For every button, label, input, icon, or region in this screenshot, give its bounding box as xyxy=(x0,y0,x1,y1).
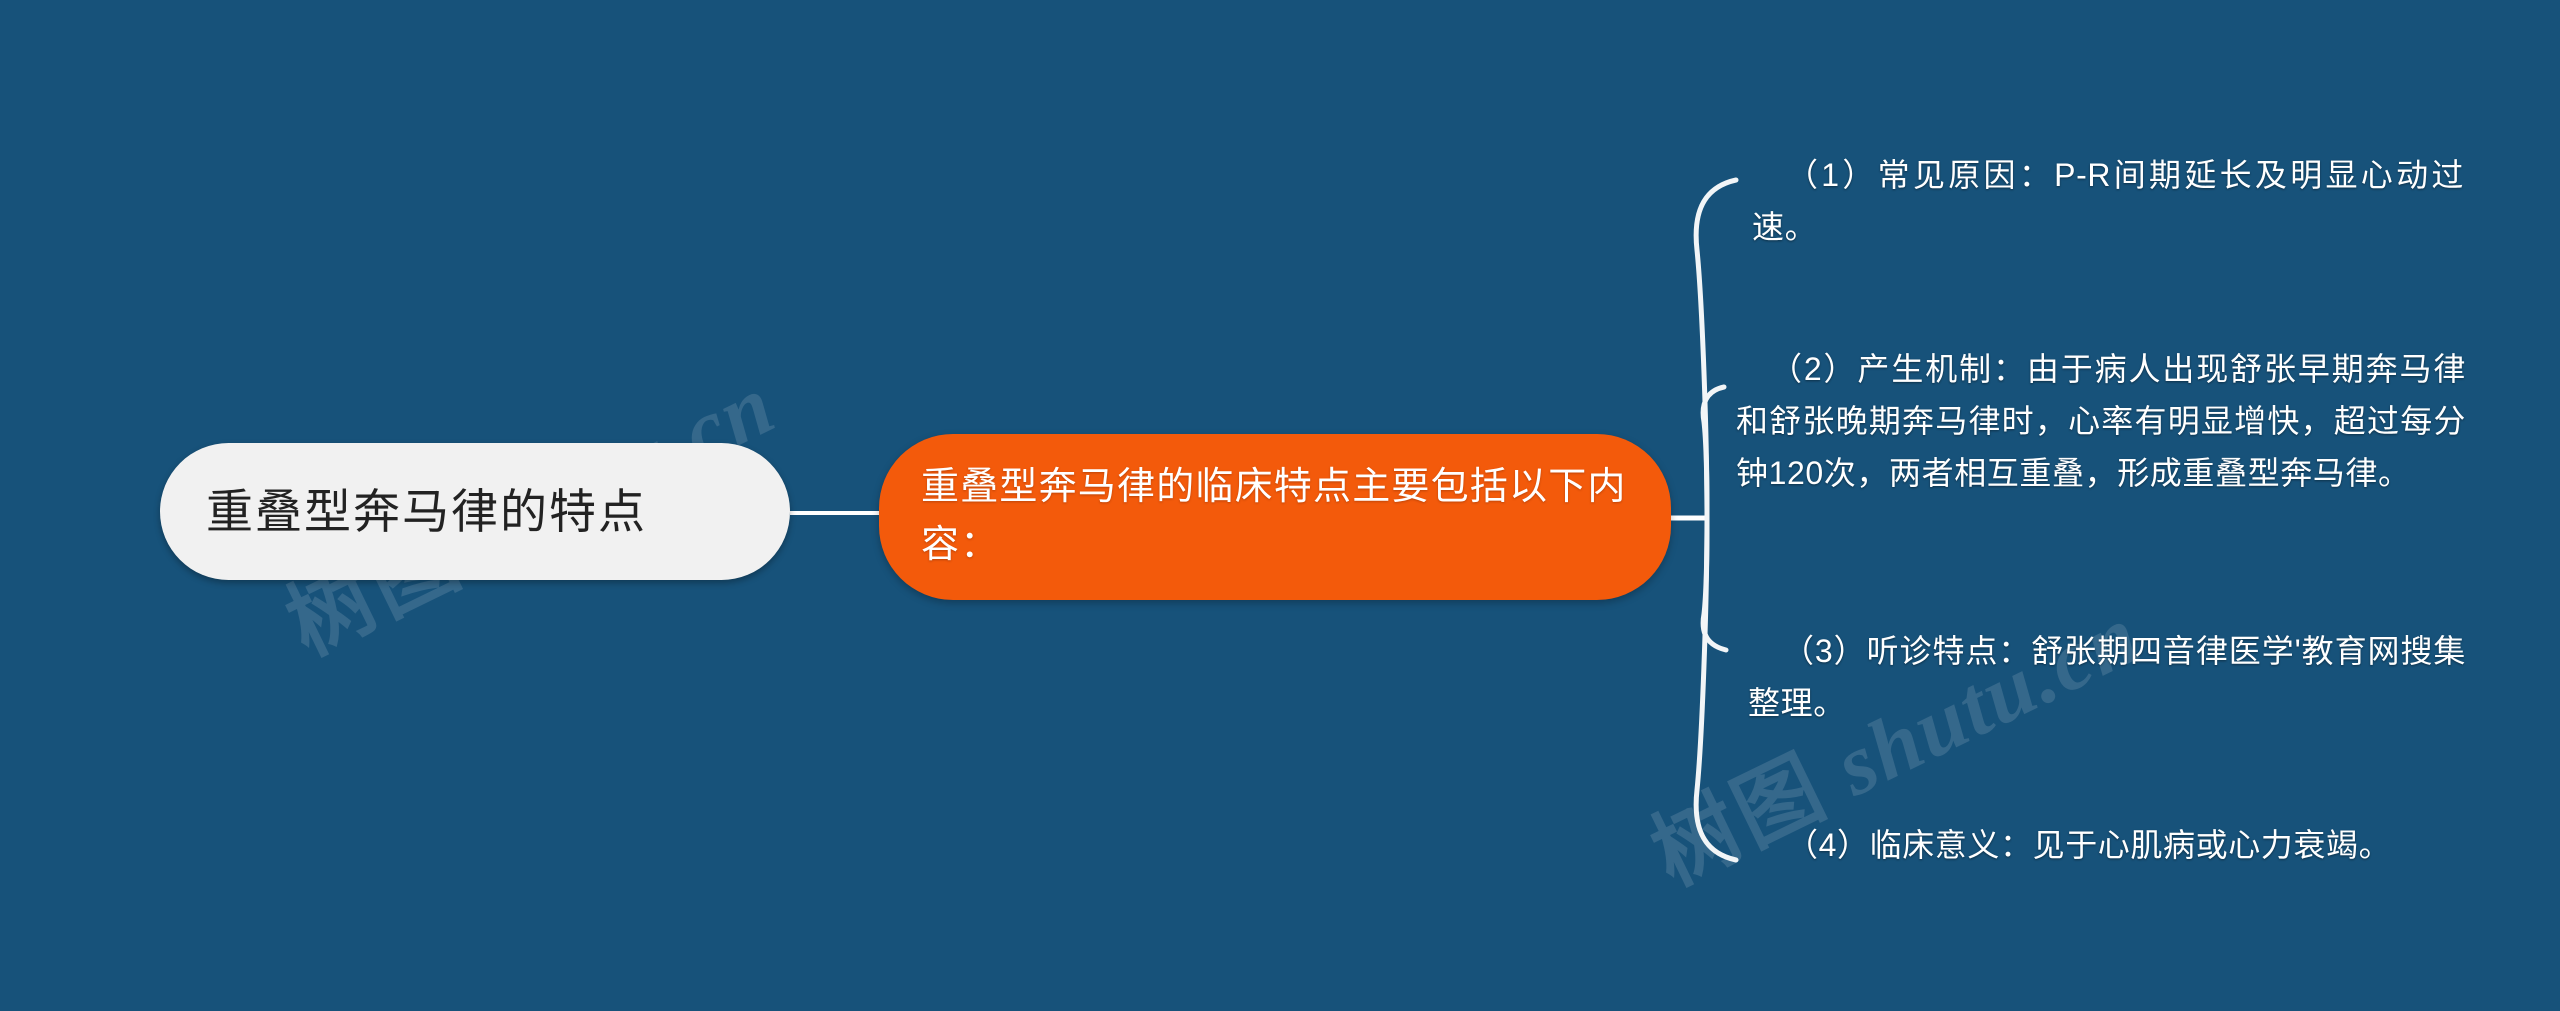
leaf-item-1[interactable]: （1）常见原因：P-R间期延长及明显心动过速。 xyxy=(1752,150,2464,254)
leaf-item-3[interactable]: （3）听诊特点：舒张期四音律医学'教育网搜集整理。 xyxy=(1748,626,2466,730)
connector-to-leaf-2 xyxy=(1703,387,1724,518)
branch-node[interactable]: 重叠型奔马律的临床特点主要包括以下内容： xyxy=(879,434,1671,600)
mindmap-canvas: 树图 shutu.cn 树图 shutu.cn 重叠型奔马律的特点 重叠型奔马律… xyxy=(0,0,2560,1011)
connector-to-leaf-4 xyxy=(1696,518,1736,860)
connector-to-leaf-1 xyxy=(1696,180,1736,518)
connector-to-leaf-3 xyxy=(1703,518,1726,650)
root-node-label: 重叠型奔马律的特点 xyxy=(206,481,647,542)
root-node[interactable]: 重叠型奔马律的特点 xyxy=(160,443,790,580)
branch-node-label: 重叠型奔马律的临床特点主要包括以下内容： xyxy=(921,459,1629,575)
leaf-item-4[interactable]: （4）临床意义：见于心肌病或心力衰竭。 xyxy=(1752,820,2470,872)
leaf-item-2[interactable]: （2）产生机制：由于病人出现舒张早期奔马律和舒张晚期奔马律时，心率有明显增快，超… xyxy=(1736,344,2466,499)
